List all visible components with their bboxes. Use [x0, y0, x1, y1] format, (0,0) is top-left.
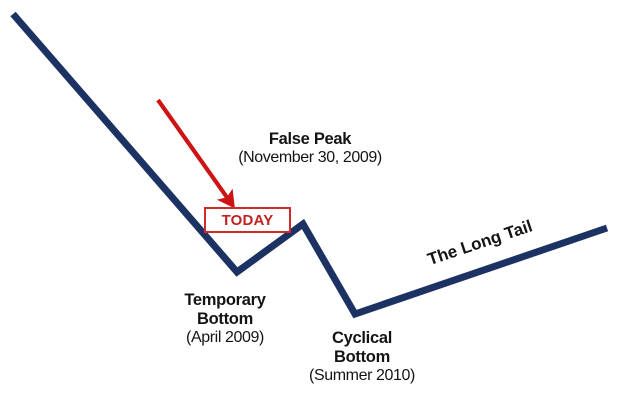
- false-peak-subtitle: (November 30, 2009): [238, 149, 382, 167]
- label-cyclical-bottom: Cyclical Bottom (Summer 2010): [309, 329, 415, 385]
- chart-canvas: TODAY False Peak (November 30, 2009) Tem…: [0, 0, 620, 409]
- temporary-bottom-title-line2: Bottom: [184, 310, 265, 329]
- temporary-bottom-subtitle: (April 2009): [184, 329, 265, 347]
- label-temporary-bottom: Temporary Bottom (April 2009): [184, 291, 265, 347]
- false-peak-title: False Peak: [238, 130, 382, 149]
- red-pointer-arrow: [158, 100, 228, 199]
- today-callout-box: TODAY: [204, 207, 291, 233]
- cyclical-bottom-title-line2: Bottom: [309, 348, 415, 367]
- label-false-peak: False Peak (November 30, 2009): [238, 130, 382, 167]
- cyclical-bottom-title-line1: Cyclical: [309, 329, 415, 348]
- cyclical-bottom-subtitle: (Summer 2010): [309, 367, 415, 385]
- temporary-bottom-title-line1: Temporary: [184, 291, 265, 310]
- today-callout-label: TODAY: [222, 212, 274, 229]
